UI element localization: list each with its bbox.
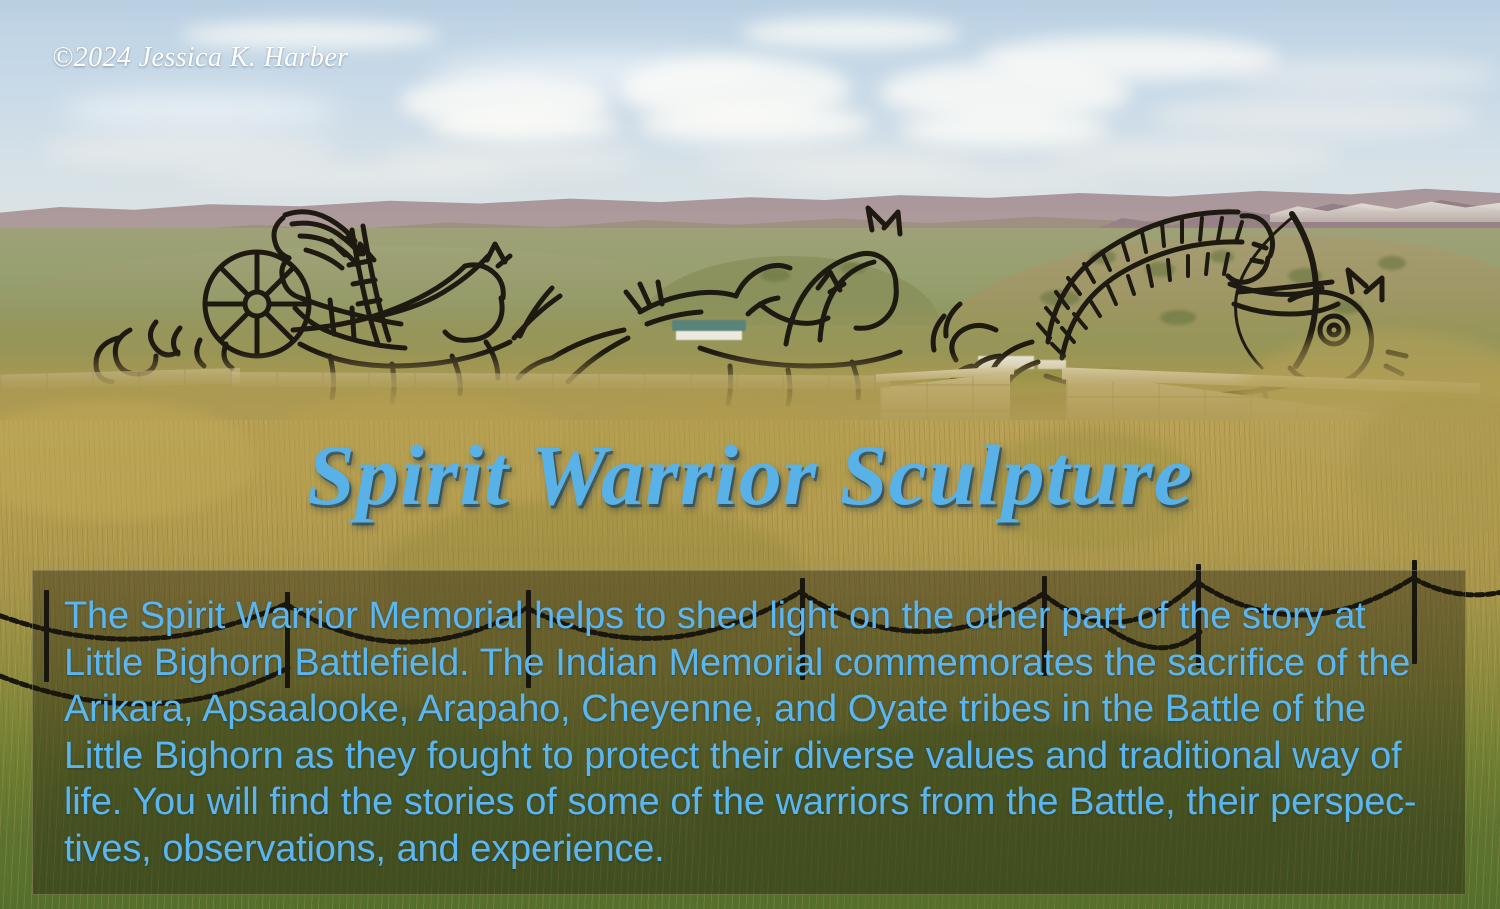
copyright-credit: ©2024 Jessica K. Harber <box>52 42 348 74</box>
cloud <box>900 112 1110 148</box>
caption-text-block: The Spirit Warrior Memorial helps to she… <box>64 593 1446 872</box>
cloud <box>1150 96 1480 136</box>
cloud <box>60 92 340 130</box>
cloud <box>640 104 870 144</box>
cloud <box>40 136 340 166</box>
cloud <box>430 110 620 142</box>
caption-line: Little Bighorn Battlefield. The Indian M… <box>64 640 1446 687</box>
cloud <box>1220 58 1500 92</box>
caption-line: Arikara, Apsaalooke, Arapaho, Cheyenne, … <box>64 686 1446 733</box>
caption-line: life. You will find the stories of some … <box>64 779 1446 826</box>
caption-line: The Spirit Warrior Memorial helps to she… <box>64 593 1446 640</box>
photo-canvas: ©2024 Jessica K. Harber Spirit Warrior S… <box>0 0 1500 909</box>
page-title: Spirit Warrior Sculpture <box>0 432 1500 518</box>
caption-line: tives, observations, and experience. <box>64 826 1446 873</box>
cloud <box>740 18 960 48</box>
caption-line: Little Bighorn as they fought to protect… <box>64 733 1446 780</box>
cloud <box>1040 142 1340 170</box>
